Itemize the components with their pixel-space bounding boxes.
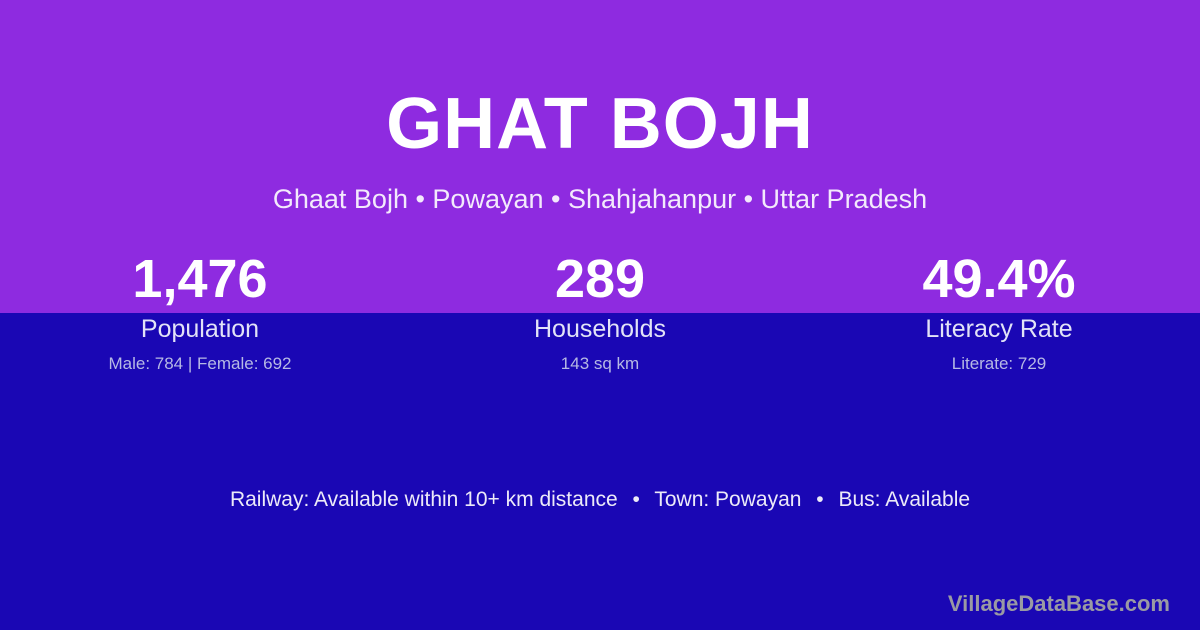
facility-separator-1: •: [624, 485, 649, 515]
stat-sublabel: Literate: 729: [799, 353, 1199, 374]
stat-sublabel: 143 sq km: [400, 353, 800, 374]
stat-population: 1,476 Population Male: 784 | Female: 692: [0, 248, 400, 374]
stat-value: 289: [400, 248, 800, 310]
breadcrumb: Ghaat Bojh • Powayan • Shahjahanpur • Ut…: [0, 181, 1200, 217]
facility-bus: Bus: Available: [839, 488, 971, 511]
stat-value: 1,476: [0, 248, 400, 310]
stat-label: Households: [400, 314, 800, 345]
stat-value: 49.4%: [799, 248, 1199, 310]
site-branding: VillageDataBase.com: [948, 590, 1170, 618]
stat-households: 289 Households 143 sq km: [400, 248, 800, 374]
facilities-line: Railway: Available within 10+ km distanc…: [0, 485, 1200, 515]
facility-town: Town: Powayan: [654, 488, 801, 511]
stats-row: 1,476 Population Male: 784 | Female: 692…: [0, 248, 1200, 374]
village-info-card: GHAT BOJH Ghaat Bojh • Powayan • Shahjah…: [0, 0, 1200, 630]
facility-railway: Railway: Available within 10+ km distanc…: [230, 488, 618, 511]
stat-sublabel: Male: 784 | Female: 692: [0, 353, 400, 374]
page-title: GHAT BOJH: [0, 82, 1200, 166]
stat-literacy-rate: 49.4% Literacy Rate Literate: 729: [800, 248, 1200, 374]
stat-label: Population: [0, 314, 400, 345]
stat-label: Literacy Rate: [799, 314, 1199, 345]
facility-separator-2: •: [807, 485, 832, 515]
